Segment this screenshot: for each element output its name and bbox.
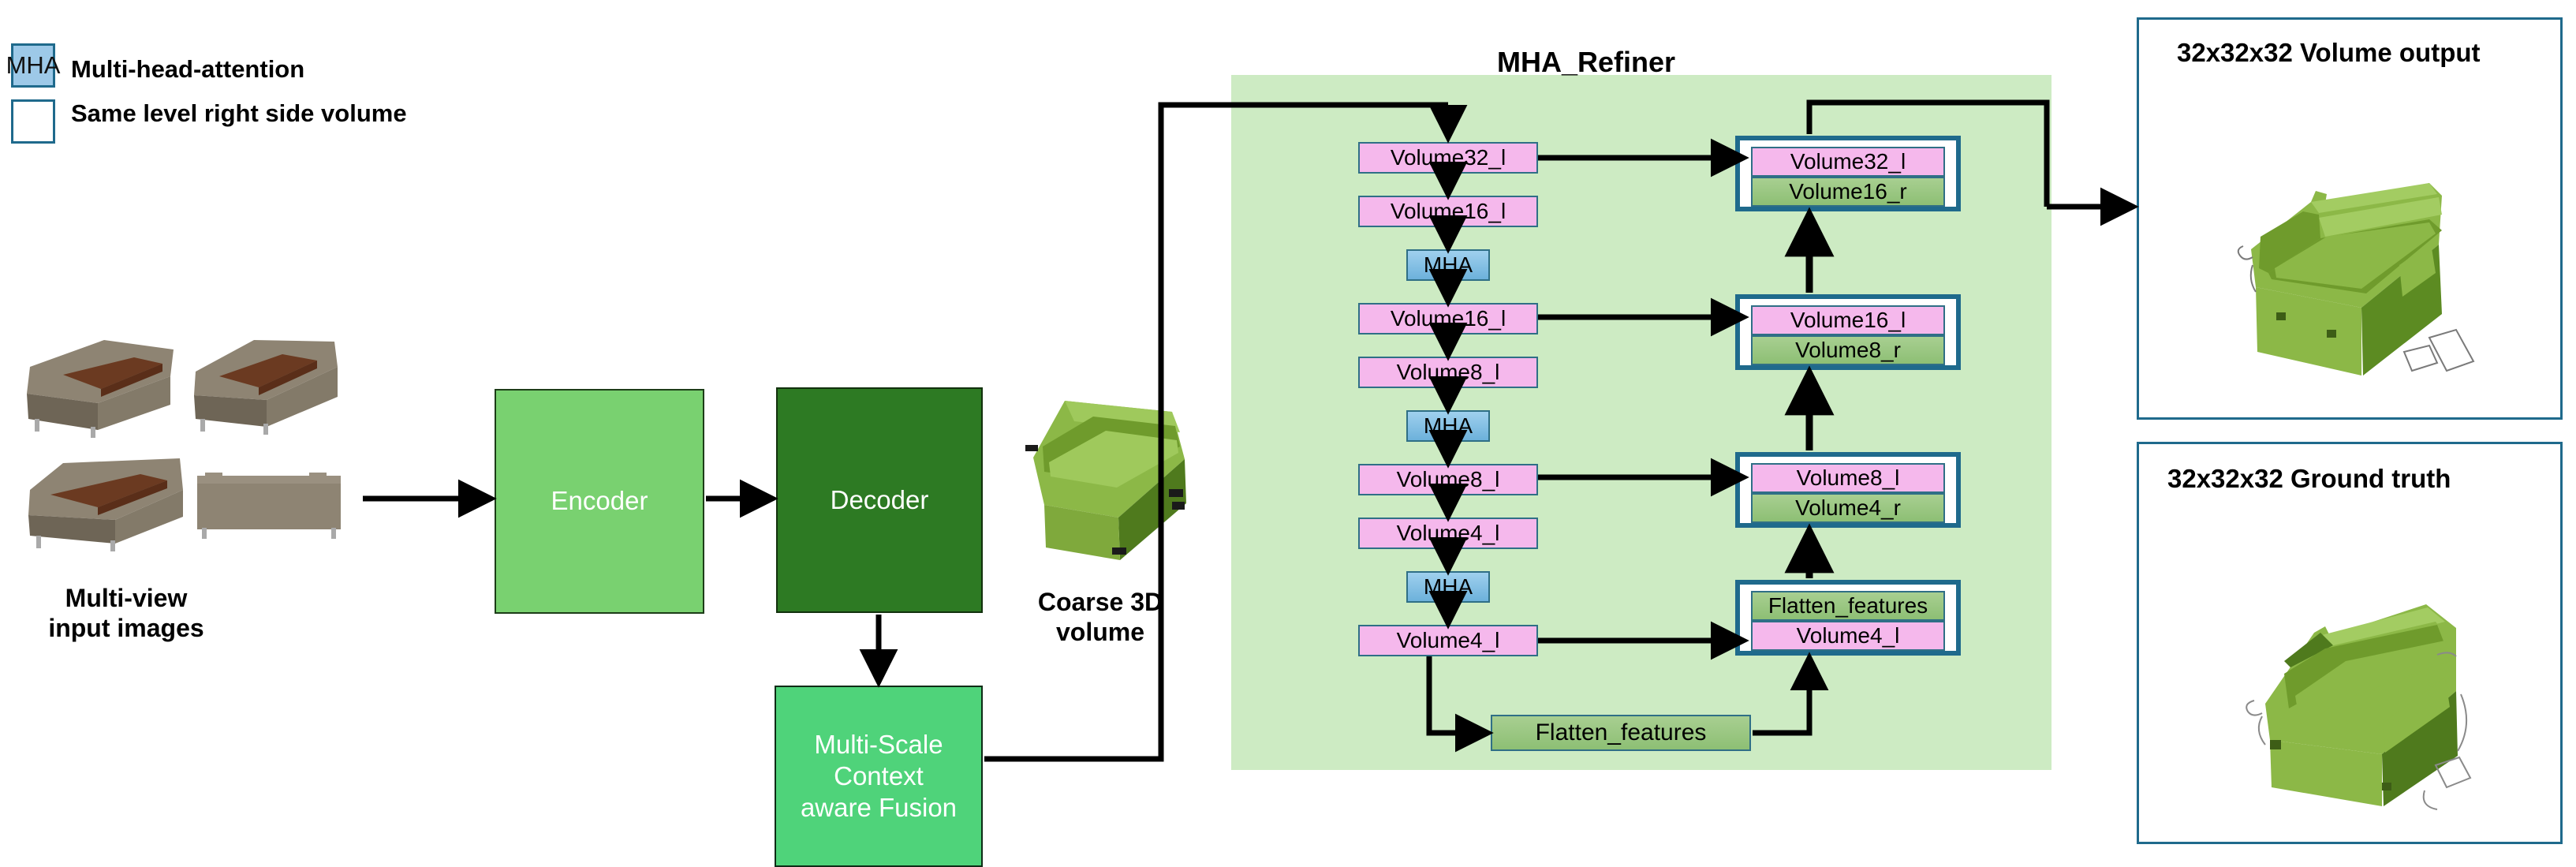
refiner-left-item-8[interactable]: MHA [1406, 571, 1490, 603]
refiner-right-pair-3[interactable]: Flatten_features Volume4_l [1735, 580, 1961, 656]
volume-output-title: 32x32x32 Volume output [2177, 38, 2481, 68]
refiner-left-label-7: Volume4_l [1397, 521, 1500, 546]
refiner-left-label-2: MHA [1424, 252, 1473, 278]
refiner-left-item-7[interactable]: Volume4_l [1358, 518, 1538, 549]
refiner-right-pair-1-top[interactable]: Volume16_l [1751, 305, 1945, 335]
legend-swatch-same-level [11, 99, 55, 144]
refiner-left-label-5: MHA [1424, 413, 1473, 439]
volume-output-render [2193, 110, 2524, 402]
ground-truth-title: 32x32x32 Ground truth [2167, 464, 2451, 494]
refiner-left-item-1[interactable]: Volume16_l [1358, 196, 1538, 227]
refiner-right-pair-0-top-label: Volume32_l [1790, 149, 1906, 174]
refiner-right-pair-2-bottom[interactable]: Volume4_r [1751, 493, 1945, 523]
refiner-left-label-4: Volume8_l [1397, 360, 1500, 385]
refiner-right-pair-3-top[interactable]: Flatten_features [1751, 591, 1945, 621]
refiner-right-pair-3-bottom[interactable]: Volume4_l [1751, 621, 1945, 651]
mha-refiner-title: MHA_Refiner [1497, 46, 1675, 79]
legend-label-mha: Multi-head-attention [71, 55, 304, 84]
legend-label-same-level: Same level right side volume [71, 99, 407, 128]
refiner-right-pair-1-top-label: Volume16_l [1790, 308, 1906, 333]
refiner-right-pair-2[interactable]: Volume8_l Volume4_r [1735, 452, 1961, 528]
flatten-features-block[interactable]: Flatten_features [1491, 715, 1751, 751]
refiner-left-item-2[interactable]: MHA [1406, 249, 1490, 281]
coarse-volume-caption-line2: volume [986, 618, 1215, 648]
refiner-right-pair-1-bottom[interactable]: Volume8_r [1751, 335, 1945, 365]
multi-view-input-images [8, 320, 371, 572]
refiner-left-item-3[interactable]: Volume16_l [1358, 303, 1538, 334]
refiner-right-pair-0[interactable]: Volume32_l Volume16_r [1735, 136, 1961, 211]
flatten-features-label: Flatten_features [1536, 719, 1707, 746]
ground-truth-render [2185, 529, 2524, 828]
refiner-right-pair-0-bottom-label: Volume16_r [1789, 179, 1906, 204]
refiner-right-pair-0-top[interactable]: Volume32_l [1751, 147, 1945, 177]
legend-mha-badge: MHA [6, 51, 61, 80]
refiner-left-label-0: Volume32_l [1391, 145, 1506, 170]
coarse-volume-caption-line1: Coarse 3D [986, 588, 1215, 618]
multi-view-caption-line1: Multi-view [16, 584, 237, 614]
fusion-label-line2: Context [801, 760, 957, 792]
refiner-right-pair-2-top[interactable]: Volume8_l [1751, 463, 1945, 493]
refiner-left-item-0[interactable]: Volume32_l [1358, 142, 1538, 174]
refiner-left-item-6[interactable]: Volume8_l [1358, 464, 1538, 495]
legend-swatch-mha: MHA [11, 43, 55, 88]
decoder-label: Decoder [831, 484, 929, 516]
refiner-left-item-9[interactable]: Volume4_l [1358, 625, 1538, 656]
refiner-left-item-4[interactable]: Volume8_l [1358, 357, 1538, 388]
refiner-left-label-8: MHA [1424, 574, 1473, 600]
refiner-right-pair-1-bottom-label: Volume8_r [1795, 338, 1901, 363]
fusion-label-line1: Multi-Scale [801, 729, 957, 760]
refiner-right-pair-2-top-label: Volume8_l [1797, 465, 1900, 491]
decoder-block[interactable]: Decoder [776, 387, 983, 613]
fusion-label-line3: aware Fusion [801, 792, 957, 824]
multi-view-caption: Multi-view input images [16, 584, 237, 644]
coarse-3d-volume-render [1017, 371, 1215, 584]
refiner-right-pair-3-bottom-label: Volume4_l [1797, 623, 1900, 648]
refiner-right-pair-0-bottom[interactable]: Volume16_r [1751, 177, 1945, 207]
multi-view-caption-line2: input images [16, 614, 237, 644]
refiner-right-pair-1[interactable]: Volume16_l Volume8_r [1735, 294, 1961, 370]
refiner-left-label-9: Volume4_l [1397, 628, 1500, 653]
multi-scale-context-aware-fusion-block[interactable]: Multi-Scale Context aware Fusion [775, 686, 983, 867]
refiner-left-label-1: Volume16_l [1391, 199, 1506, 224]
encoder-label: Encoder [551, 485, 648, 517]
refiner-left-item-5[interactable]: MHA [1406, 410, 1490, 442]
refiner-right-pair-3-top-label: Flatten_features [1768, 593, 1928, 618]
refiner-right-pair-2-bottom-label: Volume4_r [1795, 495, 1901, 521]
refiner-left-label-6: Volume8_l [1397, 467, 1500, 492]
coarse-volume-caption: Coarse 3D volume [986, 588, 1215, 648]
refiner-left-label-3: Volume16_l [1391, 306, 1506, 331]
encoder-block[interactable]: Encoder [495, 389, 704, 614]
